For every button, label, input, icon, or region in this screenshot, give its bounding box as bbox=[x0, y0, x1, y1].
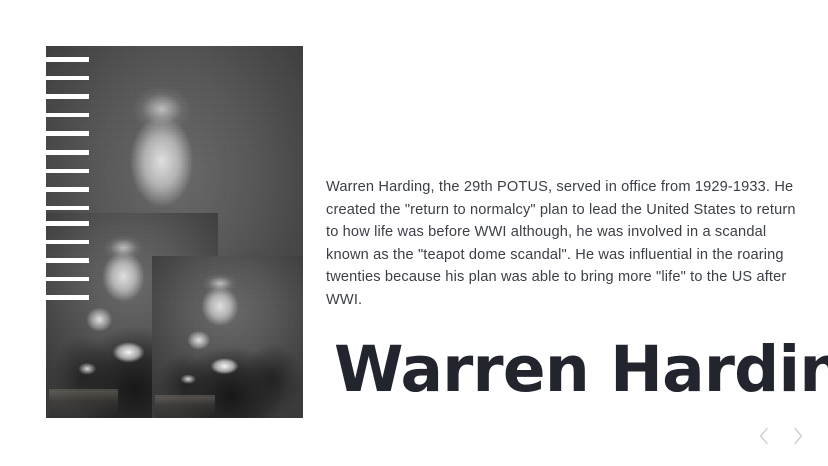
slide-navigation bbox=[748, 420, 816, 452]
body-paragraph: Warren Harding, the 29th POTUS, served i… bbox=[326, 176, 798, 312]
next-slide-button[interactable] bbox=[786, 420, 810, 452]
slide-canvas: Warren Harding, the 29th POTUS, served i… bbox=[0, 0, 828, 466]
portrait-image-small bbox=[152, 256, 303, 418]
chevron-right-icon bbox=[792, 427, 804, 445]
photo-collage bbox=[46, 46, 303, 418]
photo-small bbox=[152, 256, 303, 418]
previous-slide-button[interactable] bbox=[752, 420, 776, 452]
page-title: Warren Harding bbox=[334, 333, 828, 407]
chevron-left-icon bbox=[758, 427, 770, 445]
